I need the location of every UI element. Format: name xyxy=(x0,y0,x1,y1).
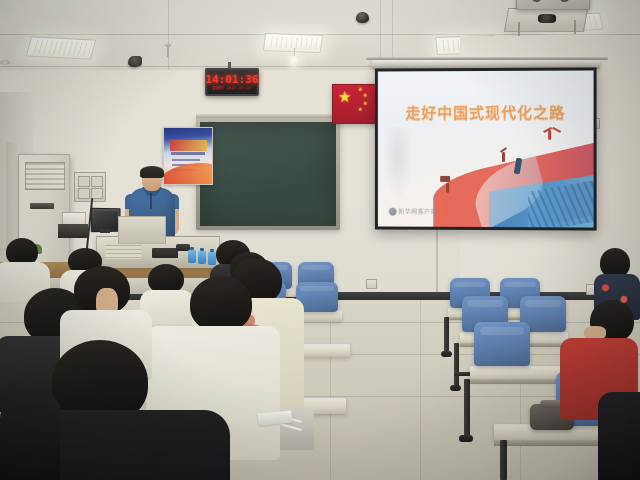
projector xyxy=(516,0,590,10)
monitor-stand xyxy=(100,229,110,233)
desk-foot xyxy=(459,435,473,442)
logo-mark-icon xyxy=(389,207,397,215)
desk-leg xyxy=(500,440,507,480)
flag-star-small: ★ xyxy=(363,102,367,107)
desk-foot xyxy=(450,385,461,391)
flag-star-small: ★ xyxy=(358,108,362,113)
floor-tile-line xyxy=(420,300,421,480)
poster-headline xyxy=(170,140,207,151)
desk-leg xyxy=(454,343,459,387)
student-body xyxy=(0,398,60,480)
student-body xyxy=(598,392,640,480)
ac-grille xyxy=(25,162,65,190)
chair[interactable] xyxy=(474,322,530,366)
student xyxy=(598,392,640,480)
clock-time: 14:01:36 xyxy=(206,74,259,85)
wall-outlet[interactable] xyxy=(366,279,377,289)
security-camera-icon xyxy=(356,12,369,23)
classroom-photo: ★ ★ ★ ★ ★ 14:01:36 星期四 2023-09-07 xyxy=(0,0,640,480)
ceiling-panel-line xyxy=(168,0,169,70)
presentation-slide: 走好中国式现代化之路 新华网客户端 xyxy=(378,70,594,227)
wall-control-panel[interactable] xyxy=(74,172,106,202)
chalkboard[interactable] xyxy=(200,122,336,226)
ac-display-panel xyxy=(30,203,54,209)
slide-logo: 新华网客户端 xyxy=(389,207,438,216)
student-head xyxy=(190,276,252,332)
sprinkler-stem xyxy=(167,47,169,57)
slide-title: 走好中国式现代化之路 xyxy=(397,102,574,123)
pendant-bulb-icon xyxy=(290,56,299,67)
laptop[interactable] xyxy=(152,248,178,258)
computer-case xyxy=(58,224,88,238)
monitor-screen xyxy=(94,211,118,229)
desk-leg xyxy=(464,379,470,437)
chalkboard-frame xyxy=(196,118,340,230)
slide-ghost-figure xyxy=(384,127,412,198)
projector-vent xyxy=(531,0,542,2)
lecturer-glasses xyxy=(143,176,161,181)
desk-vent xyxy=(105,245,141,259)
clock-date: 星期四 2023-09-07 xyxy=(212,86,251,91)
ceiling-light xyxy=(26,36,97,59)
slide-logo-text: 新华网客户端 xyxy=(398,207,437,216)
flag-star-small: ★ xyxy=(363,94,367,99)
student xyxy=(0,398,60,480)
slide-figure xyxy=(446,183,449,193)
smoke-detector-icon xyxy=(0,60,10,65)
desk-leg xyxy=(444,317,449,353)
ceiling-light xyxy=(263,33,323,53)
projector-rod xyxy=(574,20,576,34)
flag-star-large: ★ xyxy=(338,90,351,105)
slide-figure-load xyxy=(440,175,450,181)
projector-vent xyxy=(559,0,570,2)
desk-foot xyxy=(441,351,452,357)
slide-figure xyxy=(502,152,505,162)
slide-figure-arm xyxy=(552,127,561,133)
flag-star-small: ★ xyxy=(358,88,362,93)
projector-rod xyxy=(518,22,520,36)
led-clock: 14:01:36 星期四 2023-09-07 xyxy=(205,68,259,96)
wall-speaker-icon xyxy=(130,56,142,66)
slide-figure xyxy=(548,130,551,140)
lectern[interactable] xyxy=(118,216,166,244)
projection-screen[interactable]: 走好中国式现代化之路 新华网客户端 xyxy=(375,67,597,230)
projector-lens xyxy=(538,14,556,23)
floor-tile-line xyxy=(330,300,331,480)
poster-subhead xyxy=(171,152,205,155)
lecturer-placket xyxy=(150,193,152,209)
